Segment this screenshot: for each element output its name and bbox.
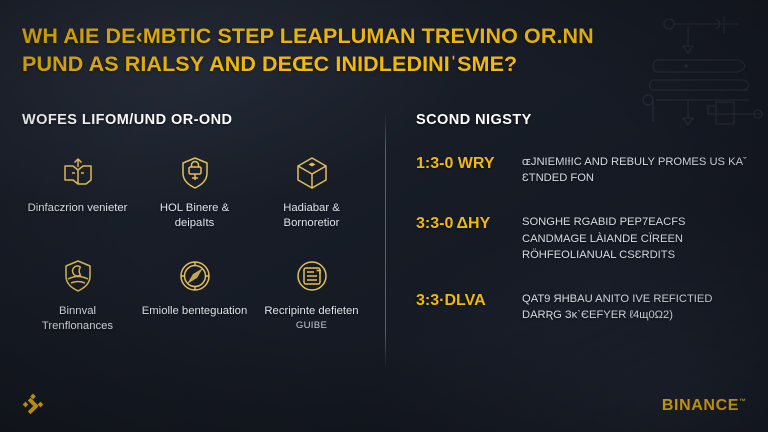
stat-key: 1:3-0 WRY <box>416 154 508 174</box>
cube-box-icon <box>293 154 331 192</box>
feature-item[interactable]: Binnval Trenflonances <box>22 257 133 334</box>
stat-description: QAT9 ЯHBAU ANITO IVE REFICTIED DARƦG Зĸˋ… <box>522 291 752 323</box>
stat-key: 3:3-0 ΔHY <box>416 214 508 234</box>
open-book-shield-icon <box>59 154 97 192</box>
feature-item-label: Recripinte defieten <box>264 304 358 319</box>
binance-wordmark-text: BINANCE <box>662 397 739 414</box>
feature-item[interactable]: Recripinte defieten GUIBE <box>256 257 367 334</box>
content-columns: WOFES LIFOM/UND OR-OND Dinfaczrion venie… <box>0 104 768 384</box>
right-column-heading: SCOND NIGSTY <box>416 112 752 128</box>
feature-item-label: Binnval Trenflonances <box>22 304 133 334</box>
feature-item-label: Emiolle benteguation <box>142 304 248 319</box>
stat-description: SONGHE RGABID PEP7EACFS CANDMAGE LÀIANDE… <box>522 214 752 263</box>
stat-list: 1:3-0 WRY ɶJNIEMIƗIC AND REBULY PROMES U… <box>416 154 752 324</box>
stat-description: ɶJNIEMIƗIC AND REBULY PROMES US KAˇ ƐTND… <box>522 154 752 186</box>
stat-row[interactable]: 1:3-0 WRY ɶJNIEMIƗIC AND REBULY PROMES U… <box>416 154 752 186</box>
binance-wordmark: BINANCE™ <box>662 397 746 415</box>
stat-row[interactable]: 3:3-0 ΔHY SONGHE RGABID PEP7EACFS CANDMA… <box>416 214 752 263</box>
left-column-heading: WOFES LIFOM/UND OR-OND <box>22 112 367 128</box>
slide-title: WH AIE DE‹MBTIC STEP LEAPLUMAN TREVINO O… <box>22 22 622 79</box>
binance-diamond-icon[interactable] <box>20 393 46 419</box>
stat-key: 3:3·DLVA <box>416 291 508 311</box>
feature-item[interactable]: HOL Binere & deipaIts <box>139 154 250 231</box>
slide-title-line-2: PUND AS RIALSY AND DEŒC INIDLEDINIˈSME? <box>22 50 622 78</box>
document-list-icon <box>293 257 331 295</box>
feature-item[interactable]: Emiolle benteguation <box>139 257 250 334</box>
feature-item-sublabel: GUIBE <box>296 320 327 331</box>
stat-row[interactable]: 3:3·DLVA QAT9 ЯHBAU ANITO IVE REFICTIED … <box>416 291 752 323</box>
right-column: SCOND NIGSTY 1:3-0 WRY ɶJNIEMIƗIC AND RE… <box>386 104 768 384</box>
feature-item-label: Dinfaczrion venieter <box>28 201 128 216</box>
compass-icon <box>176 257 214 295</box>
feature-item-label: HOL Binere & deipaIts <box>139 201 250 231</box>
left-column: WOFES LIFOM/UND OR-OND Dinfaczrion venie… <box>0 104 385 384</box>
feature-item-label: Hadiabar & Bornoretior <box>256 201 367 231</box>
feature-item[interactable]: Hadiabar & Bornoretior <box>256 154 367 231</box>
slide-title-line-1: WH AIE DE‹MBTIC STEP LEAPLUMAN TREVINO O… <box>22 22 622 50</box>
slide-canvas: WH AIE DE‹MBTIC STEP LEAPLUMAN TREVINO O… <box>0 0 768 432</box>
trademark-symbol: ™ <box>739 399 746 406</box>
shield-lock-icon <box>176 154 214 192</box>
shield-moon-icon <box>59 257 97 295</box>
feature-item[interactable]: Dinfaczrion venieter <box>22 154 133 231</box>
feature-icon-grid: Dinfaczrion venieter HOL Binere & deipaI… <box>22 154 367 334</box>
slide-footer: BINANCE™ <box>0 384 768 432</box>
